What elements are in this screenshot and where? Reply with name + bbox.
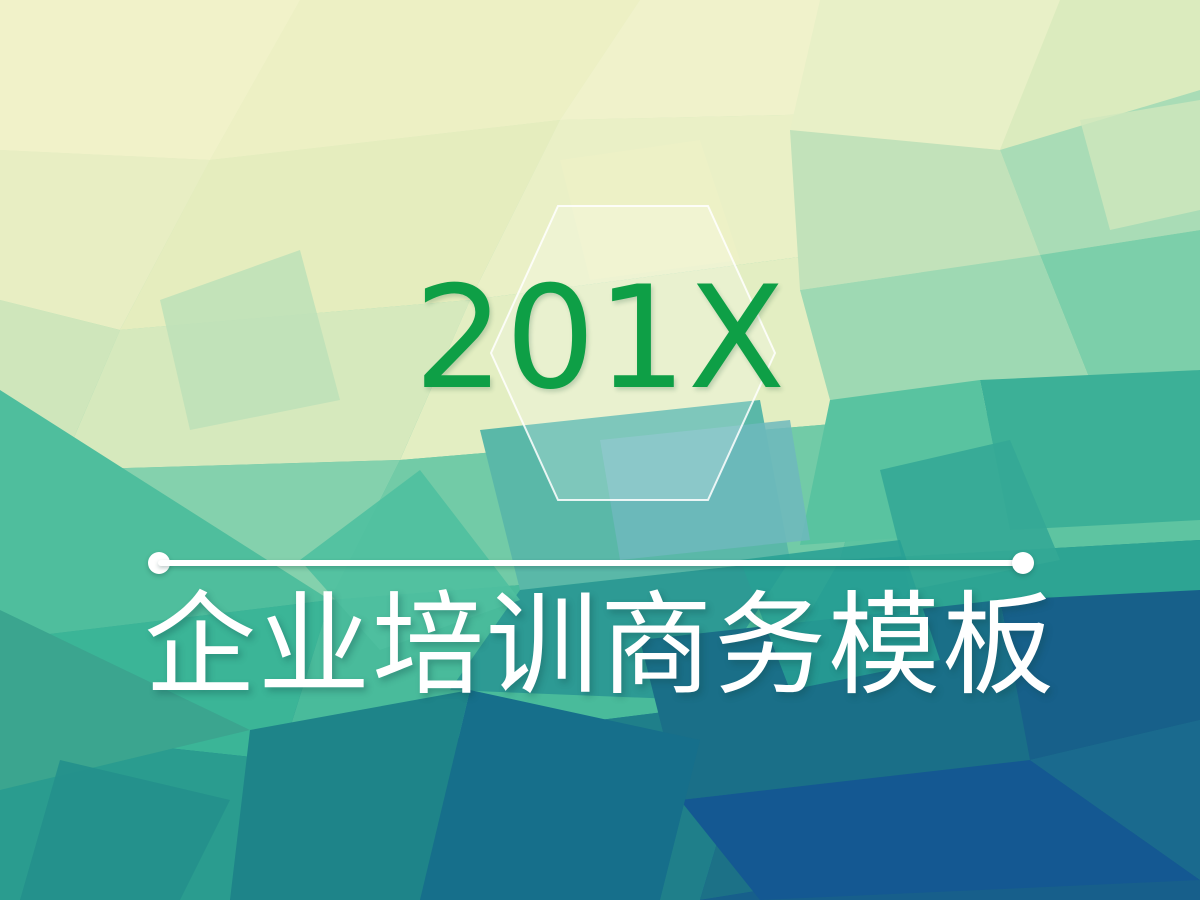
year-label: 201X bbox=[0, 268, 1200, 410]
presentation-cover-slide: 201X 企业培训商务模板 bbox=[0, 0, 1200, 900]
divider-line bbox=[158, 560, 1024, 566]
divider bbox=[148, 552, 1034, 574]
divider-dot-right bbox=[1012, 552, 1034, 574]
page-title: 企业培训商务模板 bbox=[0, 583, 1200, 711]
